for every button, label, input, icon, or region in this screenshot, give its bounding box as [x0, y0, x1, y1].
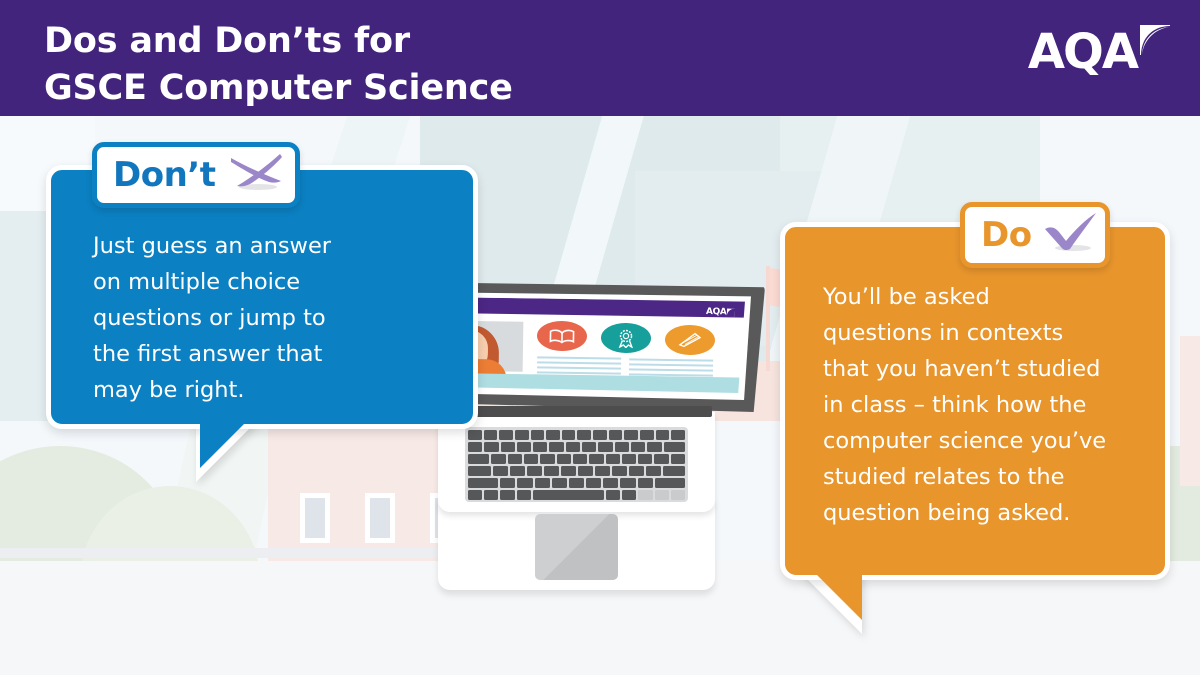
award-rosette-icon [601, 323, 651, 354]
do-tag-label: Do [981, 218, 1032, 252]
aqa-leaf-icon [727, 308, 735, 316]
keyboard-row [468, 430, 685, 440]
check-icon [1042, 209, 1100, 257]
cross-icon [225, 150, 287, 196]
laptop-keyboard [465, 427, 688, 502]
aqa-logo: AQA [1028, 28, 1170, 76]
screen-aqa-logo: AQA [705, 307, 735, 318]
aqa-leaf-icon [1140, 25, 1170, 59]
keyboard-row [468, 490, 685, 500]
dont-tag: Don’t [92, 142, 300, 208]
do-tag: Do [960, 202, 1110, 268]
laptop-hinge [440, 406, 712, 417]
building-window [300, 493, 330, 543]
do-bubble-text: You’ll be asked questions in contexts th… [823, 279, 1163, 531]
keyboard-row [468, 454, 685, 464]
do-bubble-tail [814, 572, 862, 620]
dont-tag-label: Don’t [113, 158, 215, 192]
infographic-canvas: AQA [0, 0, 1200, 675]
laptop-trackpad [535, 514, 618, 580]
keyboard-row [468, 478, 685, 488]
dont-bubble-text: Just guess an answer on multiple choice … [93, 228, 453, 408]
building-right [1180, 336, 1200, 486]
aqa-logo-text: AQA [1028, 28, 1137, 76]
keyboard-row [468, 442, 685, 452]
header-bar: Dos and Don’ts for GSCE Computer Science… [0, 0, 1200, 116]
keyboard-row [468, 466, 685, 476]
pencil-icon [665, 325, 715, 356]
screen-aqa-text: AQA [705, 307, 726, 318]
dont-bubble-tail [200, 420, 248, 468]
do-bubble: You’ll be asked questions in contexts th… [780, 222, 1170, 580]
page-title: Dos and Don’ts for GSCE Computer Science [44, 18, 513, 112]
open-book-icon [537, 321, 587, 352]
